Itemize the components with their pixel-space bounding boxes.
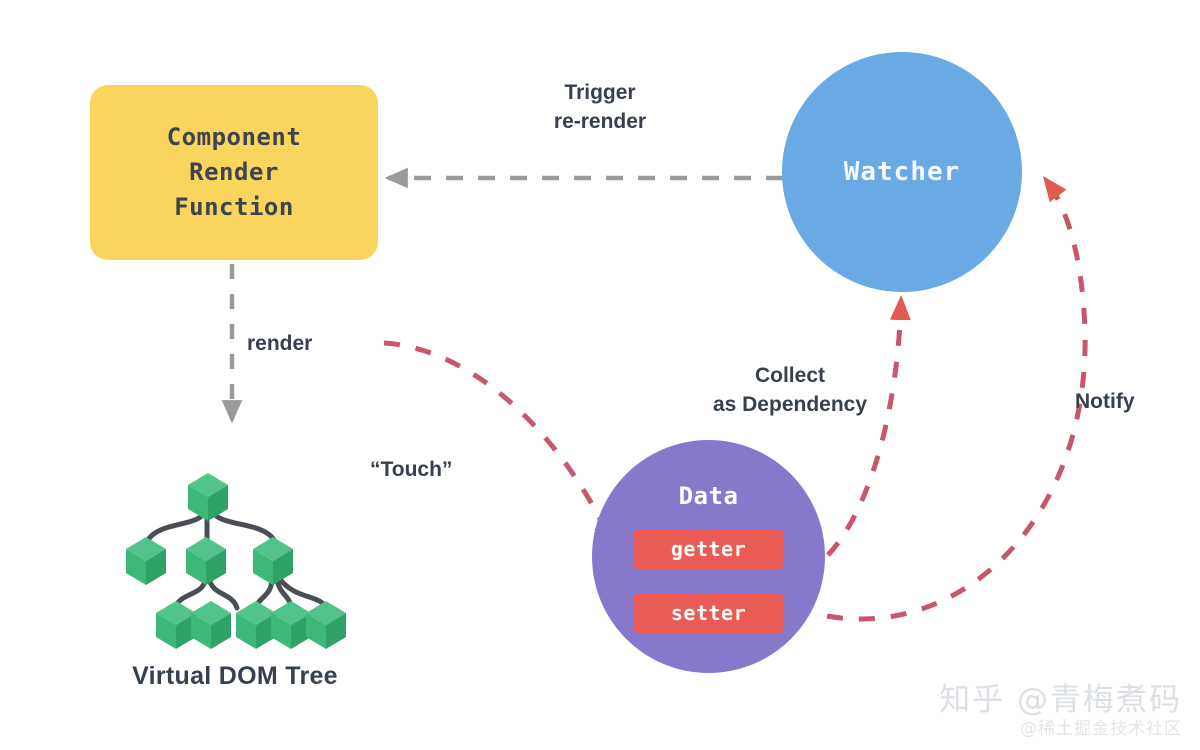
component-render-line-2: Render [189, 155, 279, 190]
dom-node-leaf-3 [236, 601, 276, 649]
component-render-function-node[interactable]: Component Render Function [90, 85, 378, 260]
watermark: 知乎 @青梅煮码 @稀土掘金技术社区 [939, 682, 1182, 740]
dom-node-root [188, 473, 228, 521]
edge-touch [384, 343, 612, 543]
setter-box[interactable]: setter [633, 593, 784, 633]
virtual-dom-tree-label: Virtual DOM Tree [90, 662, 380, 691]
edge-label-render: render [247, 329, 377, 358]
dom-node-leaf-2 [191, 601, 231, 649]
edge-collect-as-dependency [828, 300, 901, 555]
watcher-node[interactable]: Watcher [782, 52, 1022, 292]
watermark-sub: @稀土掘金技术社区 [939, 718, 1182, 740]
watermark-main: 知乎 @青梅煮码 [939, 682, 1182, 718]
data-label: Data [592, 482, 825, 510]
dom-node-leaf-4 [271, 601, 311, 649]
virtual-dom-tree-graphic [126, 473, 346, 649]
edge-label-trigger-re-render: Trigger re-render [500, 78, 700, 136]
dom-node-child-1 [126, 537, 166, 585]
dom-node-child-2 [186, 537, 226, 585]
dom-node-leaf-1 [156, 601, 196, 649]
diagram-canvas: Component Render Function Watcher Data g… [0, 0, 1200, 750]
dom-node-child-3 [253, 537, 293, 585]
getter-box[interactable]: getter [633, 529, 784, 569]
component-render-line-1: Component [167, 120, 302, 155]
edge-label-touch: “Touch” [370, 455, 510, 484]
watcher-label: Watcher [844, 157, 961, 187]
component-render-line-3: Function [174, 190, 294, 225]
dom-node-leaf-5 [306, 601, 346, 649]
edge-label-notify: Notify [1075, 387, 1185, 416]
edge-label-collect-as-dependency: Collect as Dependency [690, 361, 890, 419]
data-node[interactable]: Data getter setter [592, 440, 825, 673]
